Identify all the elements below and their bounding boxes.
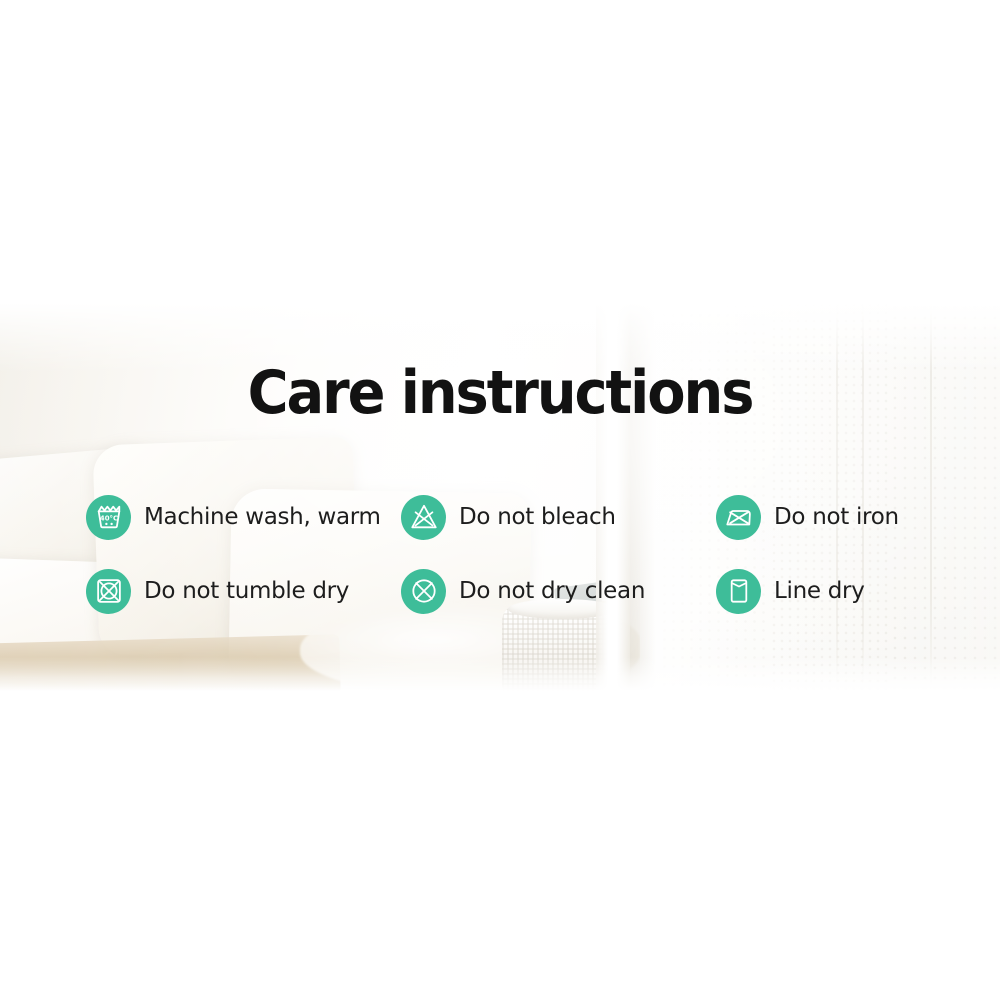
line-dry-icon xyxy=(716,569,761,614)
care-item-line-dry: Line dry xyxy=(716,569,956,614)
do-not-dry-clean-icon xyxy=(401,569,446,614)
svg-text:40°C: 40°C xyxy=(99,514,117,522)
care-item-label: Machine wash, warm xyxy=(144,504,381,530)
care-item-machine-wash: 40°C Machine wash, warm xyxy=(86,495,401,540)
care-item-do-not-tumble-dry: Do not tumble dry xyxy=(86,569,401,614)
care-instructions-banner: Care instructions 40°C Machine wash, xyxy=(0,0,1000,1000)
care-item-do-not-iron: Do not iron xyxy=(716,495,956,540)
care-item-label: Do not dry clean xyxy=(459,578,645,604)
care-row: Do not tumble dry Do not dry clean xyxy=(86,554,956,628)
do-not-iron-icon xyxy=(716,495,761,540)
do-not-tumble-dry-icon xyxy=(86,569,131,614)
care-item-label: Do not tumble dry xyxy=(144,578,349,604)
do-not-bleach-icon xyxy=(401,495,446,540)
care-row: 40°C Machine wash, warm xyxy=(86,480,956,554)
care-item-label: Line dry xyxy=(774,578,865,604)
care-item-label: Do not bleach xyxy=(459,504,616,530)
page-title: Care instructions xyxy=(35,363,965,423)
care-instruction-grid: 40°C Machine wash, warm xyxy=(86,480,956,628)
care-item-do-not-dry-clean: Do not dry clean xyxy=(401,569,716,614)
care-item-do-not-bleach: Do not bleach xyxy=(401,495,716,540)
machine-wash-40c-icon: 40°C xyxy=(86,495,131,540)
care-item-label: Do not iron xyxy=(774,504,899,530)
